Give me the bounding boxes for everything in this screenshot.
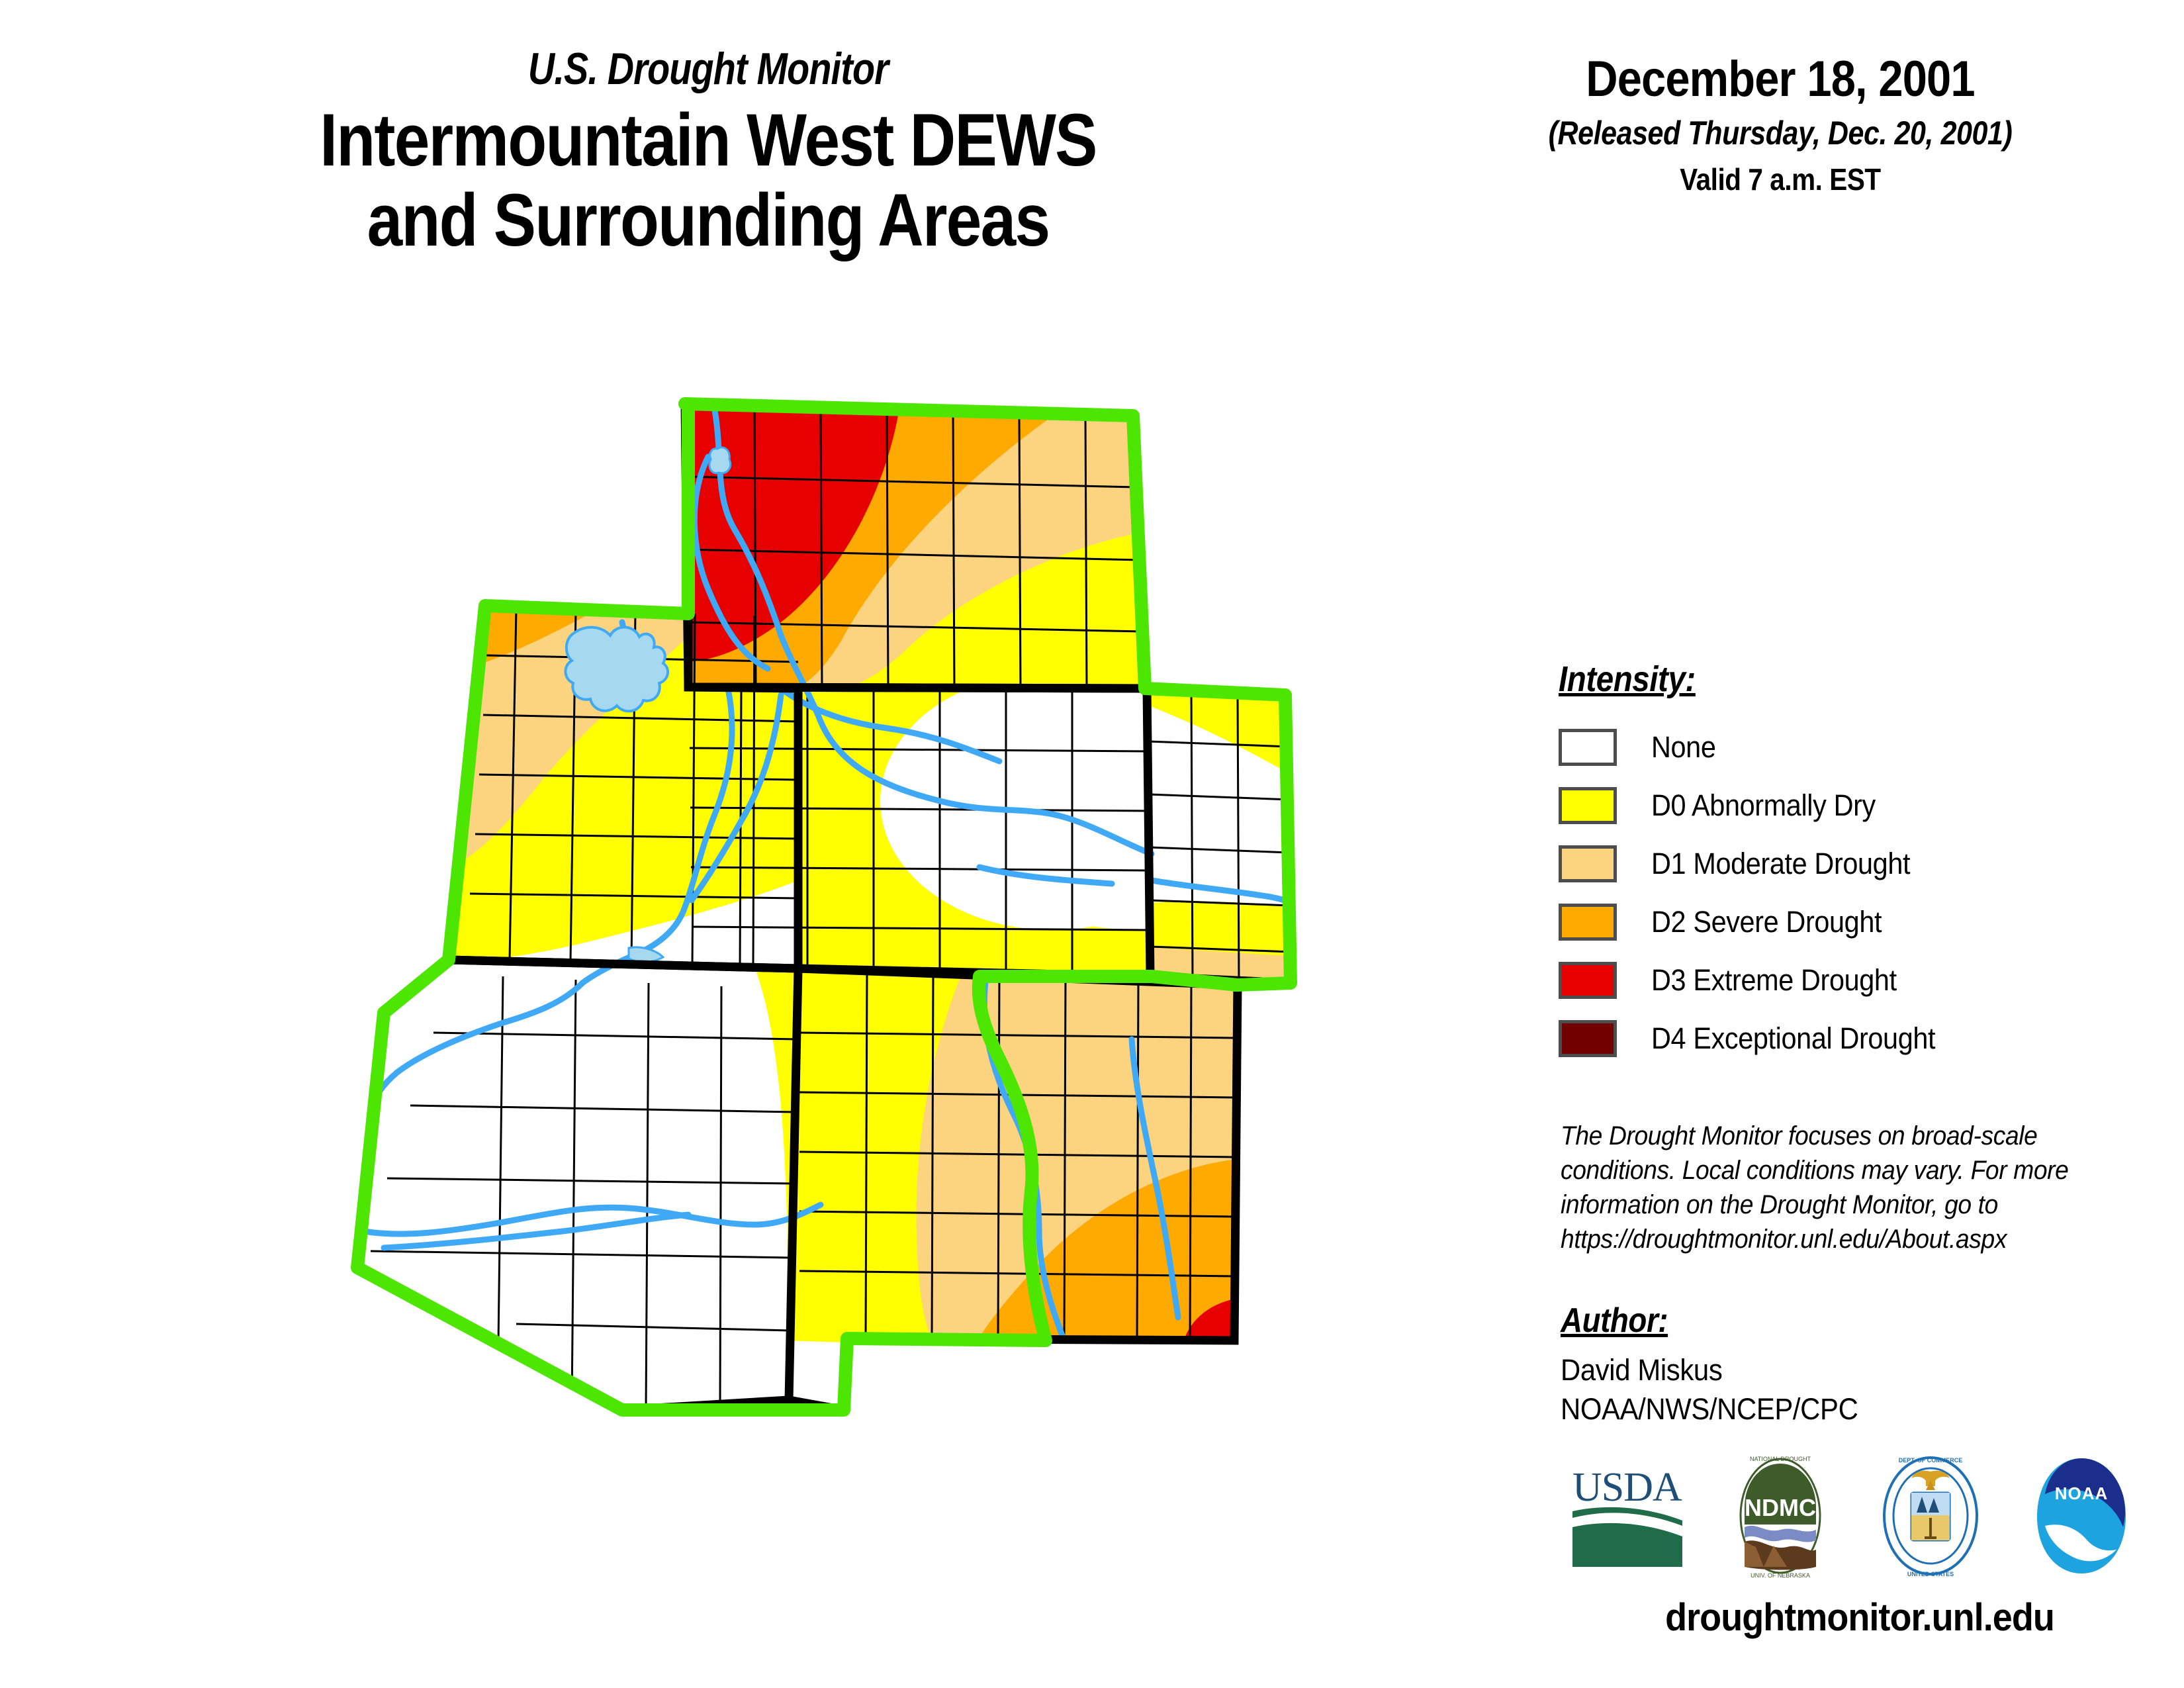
svg-text:UNITED STATES: UNITED STATES xyxy=(1907,1571,1954,1577)
product-name: U.S. Drought Monitor xyxy=(220,46,1197,91)
legend-row-none[interactable]: None xyxy=(1559,718,2088,776)
legend-label-d0: D0 Abnormally Dry xyxy=(1651,788,1876,823)
legend-label-d2: D2 Severe Drought xyxy=(1651,905,1882,939)
swatch-d0 xyxy=(1559,787,1617,824)
page-title-line-1: Intermountain West DEWS xyxy=(196,101,1220,181)
legend-row-d2[interactable]: D2 Severe Drought xyxy=(1559,893,2088,951)
legend-label-d1: D1 Moderate Drought xyxy=(1651,847,1910,881)
usda-logo: USDA xyxy=(1569,1460,1688,1572)
disclaimer-line-3: information on the Drought Monitor, go t… xyxy=(1561,1188,2102,1222)
disclaimer-text: The Drought Monitor focuses on broad-sca… xyxy=(1561,1119,2143,1256)
disclaimer-url[interactable]: https://droughtmonitor.unl.edu/About.asp… xyxy=(1561,1222,2102,1256)
svg-text:NDMC: NDMC xyxy=(1745,1494,1816,1521)
disclaimer-line-1: The Drought Monitor focuses on broad-sca… xyxy=(1561,1119,2102,1153)
noaa-logo: NOAA xyxy=(2025,1453,2138,1579)
agency-logos: USDA NDMC NATIONAL DROUGHT UNIV. OF NEBR… xyxy=(1569,1450,2138,1582)
legend-heading: Intensity: xyxy=(1559,659,1696,700)
swatch-d3 xyxy=(1559,962,1617,999)
legend-label-d3: D3 Extreme Drought xyxy=(1651,963,1897,998)
author-affiliation: NOAA/NWS/NCEP/CPC xyxy=(1561,1390,2053,1429)
author-heading: Author: xyxy=(1561,1301,1668,1340)
disclaimer-line-2: conditions. Local conditions may vary. F… xyxy=(1561,1153,2102,1188)
svg-text:USDA: USDA xyxy=(1572,1465,1682,1510)
swatch-d1 xyxy=(1559,845,1617,882)
great-salt-lake xyxy=(565,627,668,711)
date-block: December 18, 2001 (Released Thursday, De… xyxy=(1449,53,2111,197)
flathead-lake xyxy=(709,447,731,473)
svg-text:UNIV. OF NEBRASKA: UNIV. OF NEBRASKA xyxy=(1751,1572,1810,1579)
swatch-none xyxy=(1559,729,1617,766)
page-title: Intermountain West DEWS and Surrounding … xyxy=(196,101,1220,261)
legend-row-d0[interactable]: D0 Abnormally Dry xyxy=(1559,776,2088,835)
legend-row-d4[interactable]: D4 Exceptional Drought xyxy=(1559,1009,2088,1068)
site-url[interactable]: droughtmonitor.unl.edu xyxy=(1589,1595,2130,1640)
valid-time: Valid 7 a.m. EST xyxy=(1489,162,2071,197)
drought-map[interactable] xyxy=(318,377,1310,1589)
svg-text:NOAA: NOAA xyxy=(2055,1483,2109,1503)
author-name: David Miskus xyxy=(1561,1351,2053,1390)
legend-label-none: None xyxy=(1651,730,1716,765)
drought-map-svg[interactable] xyxy=(318,377,1310,1589)
swatch-d2 xyxy=(1559,904,1617,941)
release-date: (Released Thursday, Dec. 20, 2001) xyxy=(1496,114,2065,152)
svg-text:NATIONAL DROUGHT: NATIONAL DROUGHT xyxy=(1750,1456,1811,1462)
svg-text:DEPT. OF COMMERCE: DEPT. OF COMMERCE xyxy=(1899,1457,1963,1464)
legend-row-d3[interactable]: D3 Extreme Drought xyxy=(1559,951,2088,1009)
legend-row-d1[interactable]: D1 Moderate Drought xyxy=(1559,835,2088,893)
department-of-commerce-seal: DEPT. OF COMMERCE UNITED STATES xyxy=(1873,1453,1989,1579)
valid-date: December 18, 2001 xyxy=(1489,53,2071,106)
legend-label-d4: D4 Exceptional Drought xyxy=(1651,1021,1935,1056)
swatch-d4 xyxy=(1559,1020,1617,1057)
intensity-legend: Intensity: None D0 Abnormally Dry D1 Mod… xyxy=(1559,659,2088,1068)
page-title-line-2: and Surrounding Areas xyxy=(196,181,1220,261)
arizona-drought-fill xyxy=(344,947,821,1423)
author-block: Author: David Miskus NOAA/NWS/NCEP/CPC xyxy=(1561,1301,2090,1429)
title-block: U.S. Drought Monitor Intermountain West … xyxy=(113,46,1304,261)
ndmc-logo: NDMC NATIONAL DROUGHT UNIV. OF NEBRASKA xyxy=(1724,1453,1837,1579)
